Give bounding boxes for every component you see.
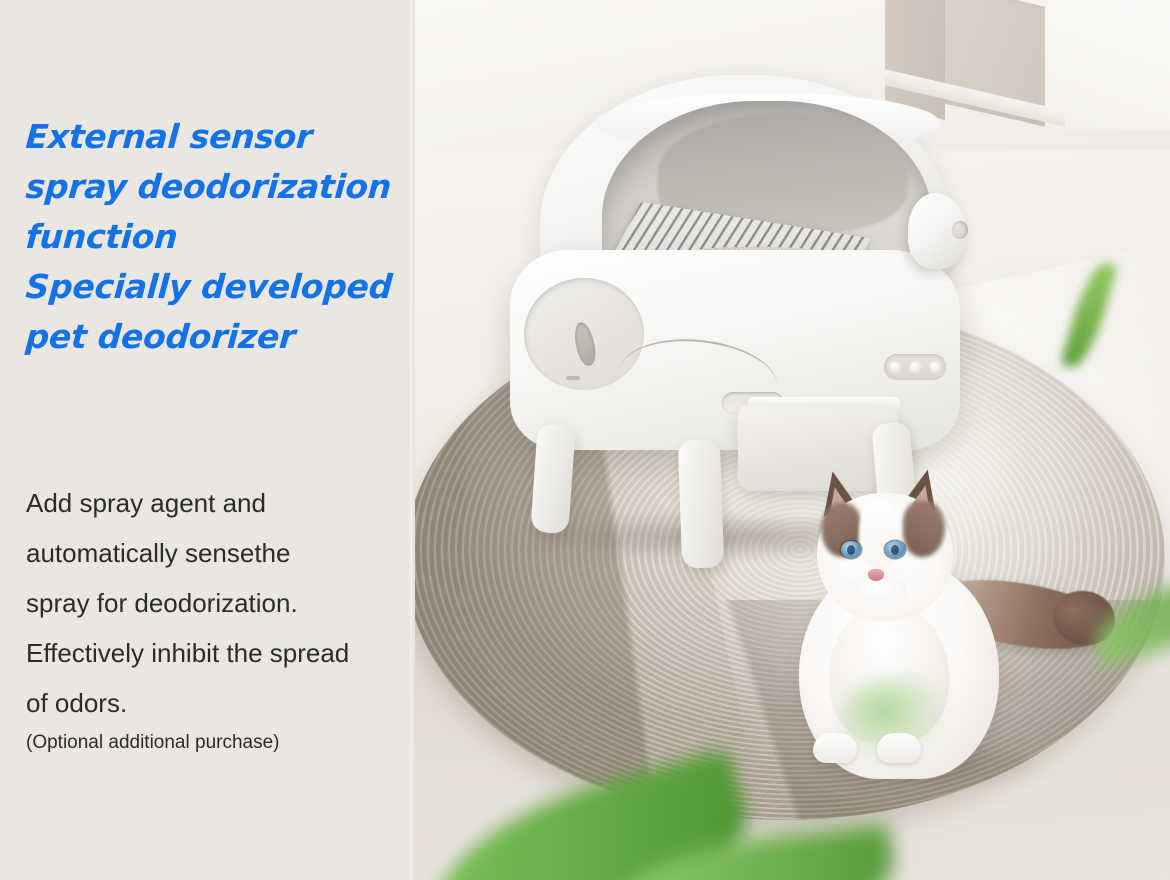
body-line-3: spray for deodorization. [26, 578, 415, 628]
emblem-bar-icon [566, 376, 580, 380]
external-sensor-spray-module [908, 193, 966, 269]
text-panel: External sensor spray deodorization func… [0, 0, 415, 880]
cat-paw [877, 733, 921, 763]
side-control-panel[interactable] [524, 278, 644, 390]
litter-box-leg [530, 424, 575, 534]
fineprint-note: (Optional additional purchase) [26, 730, 280, 756]
cat-paw [813, 733, 857, 763]
spray-nozzle-tip [952, 221, 968, 239]
status-led-panel [884, 354, 946, 380]
status-led [890, 362, 900, 372]
headline-line-2: spray deodorization [24, 162, 415, 212]
headline-line-1: External sensor [24, 112, 415, 162]
cat-face-blaze [859, 499, 899, 569]
body-copy-block: Add spray agent and automatically senset… [26, 478, 415, 728]
litter-box-leg [678, 439, 724, 568]
body-line-5: of odors. [26, 678, 415, 728]
cat-pupil [847, 545, 855, 555]
product-feature-banner: External sensor spray deodorization func… [0, 0, 1170, 880]
status-led [910, 362, 920, 372]
cat-eye [841, 541, 861, 558]
cat-pupil [891, 545, 899, 555]
headline-block: External sensor spray deodorization func… [24, 112, 415, 362]
body-line-4: Effectively inhibit the spread [26, 628, 415, 678]
headline-line-4: Specially developed [24, 262, 415, 312]
headline-line-5: pet deodorizer [24, 312, 415, 362]
ragdoll-cat [785, 465, 1075, 805]
body-line-2: automatically sensethe [26, 528, 415, 578]
cat-nose [868, 569, 884, 581]
cat-emblem-icon [572, 321, 599, 368]
product-photo [415, 0, 1170, 880]
status-led [930, 362, 940, 372]
body-line-1: Add spray agent and [26, 478, 415, 528]
headline-line-3: function [24, 212, 415, 262]
cat-eye [885, 541, 905, 558]
